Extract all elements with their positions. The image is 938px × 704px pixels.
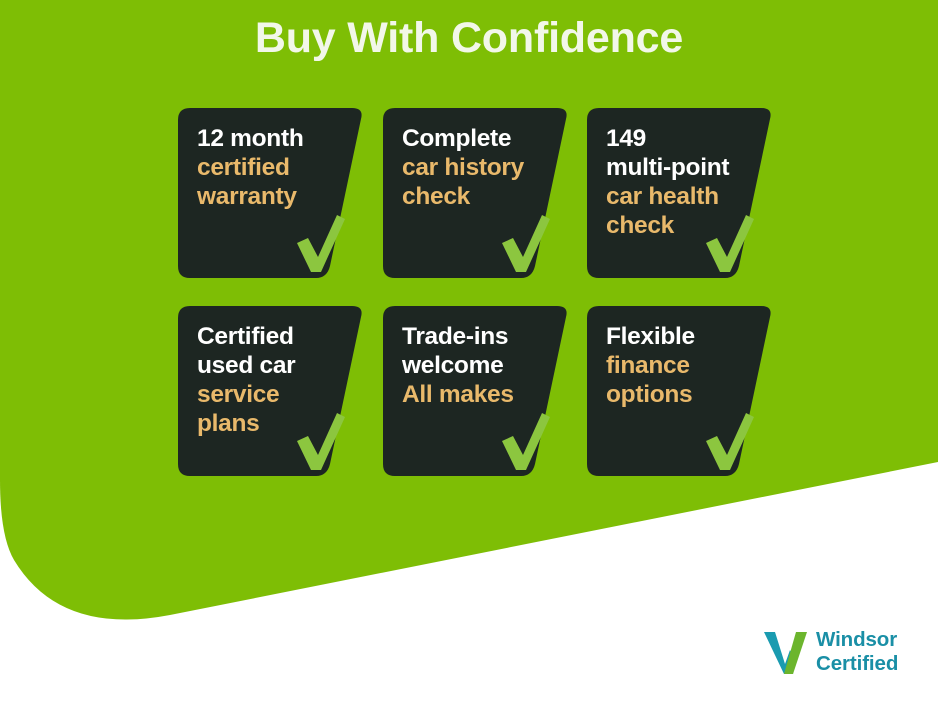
card-line: Trade-ins	[402, 323, 552, 352]
check-mark-icon	[294, 212, 346, 274]
card-line: warranty	[197, 183, 347, 212]
feature-card-service-plans[interactable]: Certified used car service plans	[178, 306, 364, 476]
card-line: service	[197, 381, 347, 410]
windsor-w-mark-icon	[762, 630, 812, 678]
card-line: check	[402, 183, 552, 212]
check-mark-icon	[703, 212, 755, 274]
card-text-block: Trade-ins welcome All makes	[402, 323, 552, 410]
card-line: options	[606, 381, 756, 410]
windsor-certified-logo[interactable]: Windsor Certified	[762, 626, 930, 684]
check-mark-icon	[499, 212, 551, 274]
logo-wordmark: Windsor Certified	[816, 628, 898, 676]
logo-line-2: Certified	[816, 652, 898, 676]
card-line: Flexible	[606, 323, 756, 352]
check-mark-icon	[703, 410, 755, 472]
card-line: finance	[606, 352, 756, 381]
feature-card-car-history-check[interactable]: Complete car history check	[383, 108, 569, 278]
feature-card-flexible-finance[interactable]: Flexible finance options	[587, 306, 773, 476]
card-line: car history	[402, 154, 552, 183]
poster-canvas: Buy With Confidence 12 month certified w…	[0, 0, 938, 704]
card-line: certified	[197, 154, 347, 183]
feature-card-multi-point-health-check[interactable]: 149 multi-point car health check	[587, 108, 773, 278]
card-line: welcome	[402, 352, 552, 381]
card-line: 149	[606, 125, 756, 154]
check-mark-icon	[499, 410, 551, 472]
card-line: car health	[606, 183, 756, 212]
feature-card-trade-ins-welcome[interactable]: Trade-ins welcome All makes	[383, 306, 569, 476]
card-line: multi-point	[606, 154, 756, 183]
card-line: 12 month	[197, 125, 347, 154]
feature-card-certified-warranty[interactable]: 12 month certified warranty	[178, 108, 364, 278]
card-line: All makes	[402, 381, 552, 410]
card-text-block: 12 month certified warranty	[197, 125, 347, 212]
card-text-block: Flexible finance options	[606, 323, 756, 410]
card-line: used car	[197, 352, 347, 381]
card-line: Complete	[402, 125, 552, 154]
card-line: Certified	[197, 323, 347, 352]
page-title: Buy With Confidence	[0, 14, 938, 63]
check-mark-icon	[294, 410, 346, 472]
logo-line-1: Windsor	[816, 628, 898, 652]
card-text-block: Complete car history check	[402, 125, 552, 212]
